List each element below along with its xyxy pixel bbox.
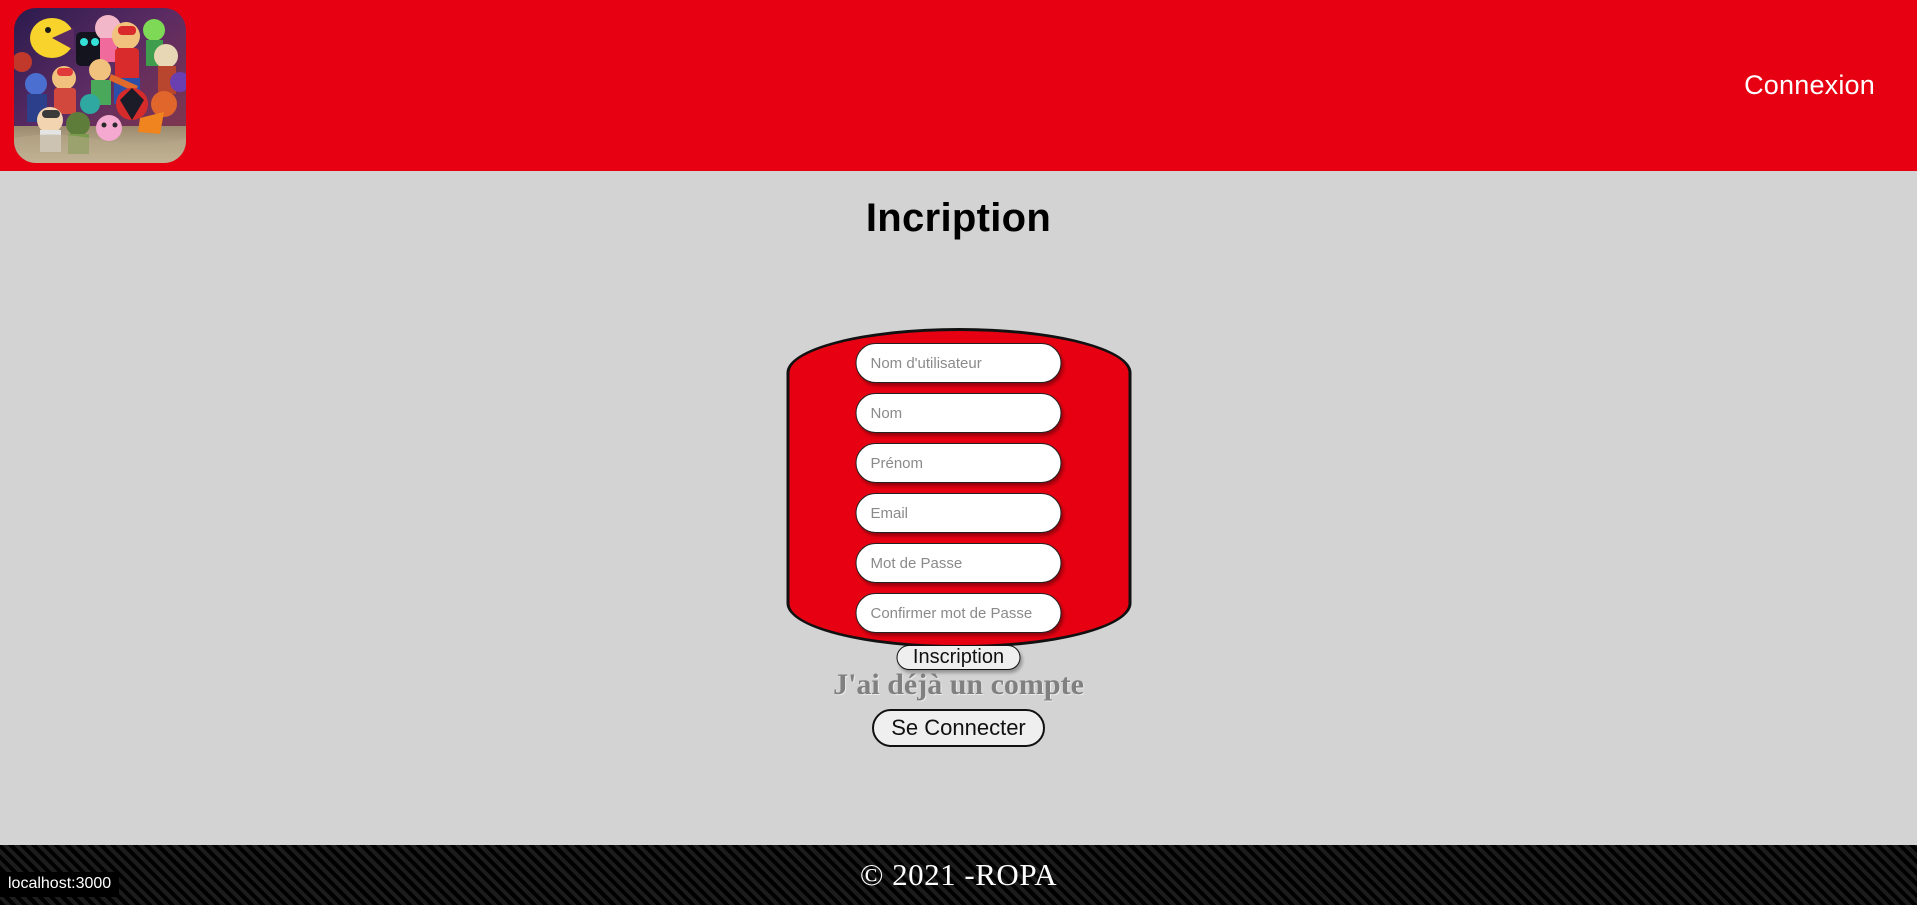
brand-logo-link[interactable] [14,8,186,163]
page-title: Incription [0,171,1917,241]
main-content: Incription Inscription J'ai déjà [0,171,1917,905]
signup-submit-button[interactable]: Inscription [897,645,1020,670]
login-button-wrap: Se Connecter [0,709,1917,747]
page-root: Connexion Incription In [0,0,1917,905]
go-to-login-button[interactable]: Se Connecter [872,709,1045,747]
site-footer: © 2021 -ROPA [0,845,1917,905]
firstname-input[interactable] [856,443,1062,483]
field-row-username [856,343,1062,383]
username-input[interactable] [856,343,1062,383]
field-row-confirm-password [856,593,1062,633]
field-row-firstname [856,443,1062,483]
already-have-account-text: J'ai déjà un compte [0,668,1917,702]
email-input[interactable] [856,493,1062,533]
header-nav: Connexion [1744,70,1875,101]
signup-form-card: Inscription [786,328,1131,648]
field-row-lastname [856,393,1062,433]
browser-status-url: localhost:3000 [0,872,119,897]
nav-login-link[interactable]: Connexion [1744,70,1875,101]
field-row-password [856,543,1062,583]
password-input[interactable] [856,543,1062,583]
site-header: Connexion [0,0,1917,171]
confirm-password-input[interactable] [856,593,1062,633]
lastname-input[interactable] [856,393,1062,433]
footer-copyright: © 2021 -ROPA [860,857,1057,893]
smash-bros-artwork-icon [14,8,186,163]
field-row-email [856,493,1062,533]
